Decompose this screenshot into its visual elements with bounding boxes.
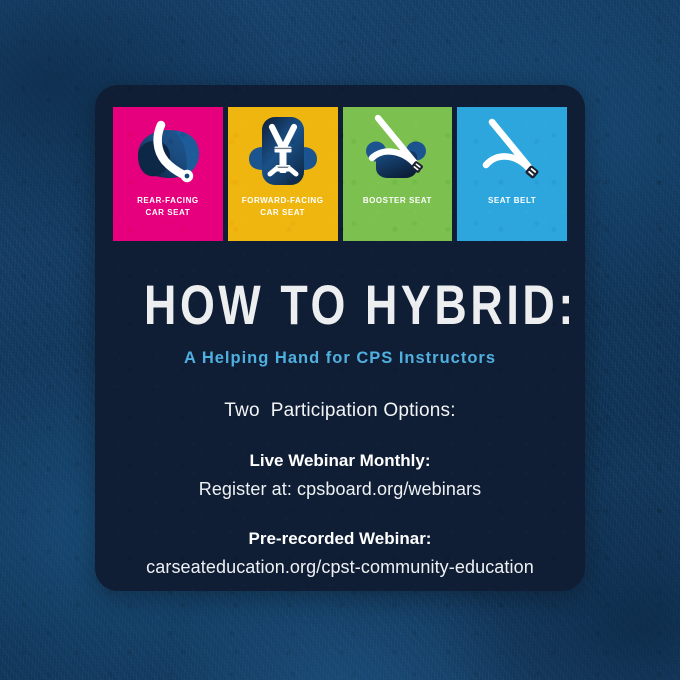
tile-label-forward-facing-car-seat: Forward-Facing Car Seat	[240, 195, 326, 218]
tile-label-seat-belt: Seat Belt	[486, 195, 538, 207]
content-card: Rear-Facing Car Seat	[95, 85, 585, 591]
tile-label-booster-seat: Booster Seat	[361, 195, 434, 207]
option-pre-recorded-webinar-title: Pre-recorded Webinar:	[95, 527, 585, 551]
option-pre-recorded-webinar-detail[interactable]: carseateducation.org/cpst-community-educ…	[95, 554, 585, 580]
tile-rear-facing-car-seat[interactable]: Rear-Facing Car Seat	[113, 107, 223, 241]
page-title: HOW TO HYBRID:	[144, 275, 536, 335]
page-subtitle: A Helping Hand for CPS Instructors	[95, 347, 585, 369]
car-seat-stage-tiles: Rear-Facing Car Seat	[113, 107, 567, 241]
forward-facing-car-seat-icon	[228, 107, 338, 195]
tile-label-rear-facing-car-seat: Rear-Facing Car Seat	[135, 195, 201, 218]
body-copy: Two Participation Options: Live Webinar …	[95, 398, 585, 580]
poster-canvas: Rear-Facing Car Seat	[0, 0, 680, 680]
option-live-webinar-detail[interactable]: Register at: cpsboard.org/webinars	[95, 476, 585, 502]
rear-facing-car-seat-icon	[113, 107, 223, 195]
seat-belt-icon	[457, 107, 567, 195]
tile-booster-seat[interactable]: Booster Seat	[343, 107, 453, 241]
option-pre-recorded-webinar: Pre-recorded Webinar: carseateducation.o…	[95, 527, 585, 580]
tile-seat-belt[interactable]: Seat Belt	[457, 107, 567, 241]
option-live-webinar-title: Live Webinar Monthly:	[95, 449, 585, 473]
headline-block: HOW TO HYBRID: A Helping Hand for CPS In…	[95, 275, 585, 369]
participation-options-lede: Two Participation Options:	[95, 398, 585, 424]
tile-forward-facing-car-seat[interactable]: Forward-Facing Car Seat	[228, 107, 338, 241]
option-live-webinar: Live Webinar Monthly: Register at: cpsbo…	[95, 449, 585, 502]
booster-seat-icon	[343, 107, 453, 195]
